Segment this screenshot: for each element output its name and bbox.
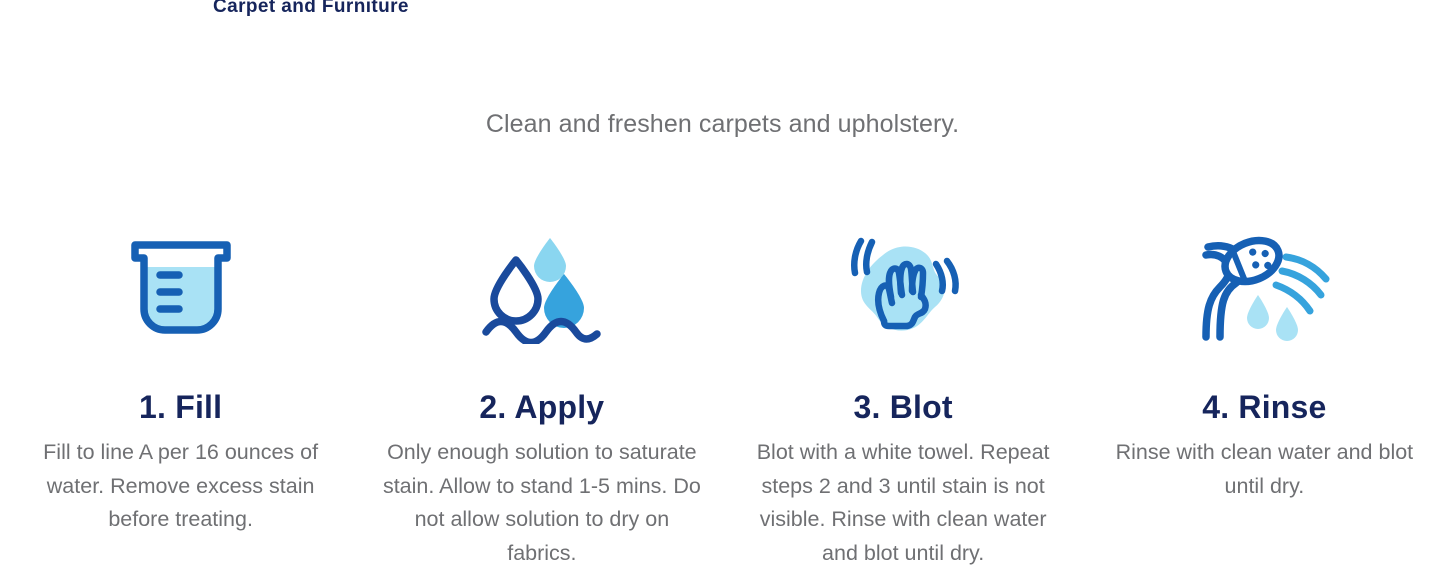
step-description: Rinse with clean water and blot until dr… — [1104, 436, 1424, 503]
shower-head-icon — [1194, 232, 1334, 344]
carpet-and-furniture-instructions-panel: Carpet and Furniture Clean and freshen c… — [0, 0, 1445, 564]
step-description: Blot with a white towel. Repeat steps 2 … — [748, 436, 1058, 570]
step-card-apply: 2. Apply Only enough solution to saturat… — [361, 232, 722, 570]
step-card-rinse: 4. Rinse Rinse with clean water and blot… — [1084, 232, 1445, 503]
step-card-blot: 3. Blot Blot with a white towel. Repeat … — [723, 232, 1084, 570]
step-title: 4. Rinse — [1202, 390, 1326, 424]
blotting-hand-icon — [839, 232, 967, 344]
measuring-cup-icon — [122, 232, 240, 344]
step-title: 2. Apply — [479, 390, 604, 424]
step-description: Fill to line A per 16 ounces of water. R… — [31, 436, 331, 537]
water-droplets-icon — [480, 232, 604, 344]
step-card-fill: 1. Fill Fill to line A per 16 ounces of … — [0, 232, 361, 537]
section-title: Carpet and Furniture — [213, 0, 409, 20]
section-subtitle: Clean and freshen carpets and upholstery… — [0, 110, 1445, 139]
step-title: 1. Fill — [139, 390, 222, 424]
step-title: 3. Blot — [854, 390, 953, 424]
steps-row: 1. Fill Fill to line A per 16 ounces of … — [0, 232, 1445, 570]
step-description: Only enough solution to saturate stain. … — [377, 436, 707, 570]
